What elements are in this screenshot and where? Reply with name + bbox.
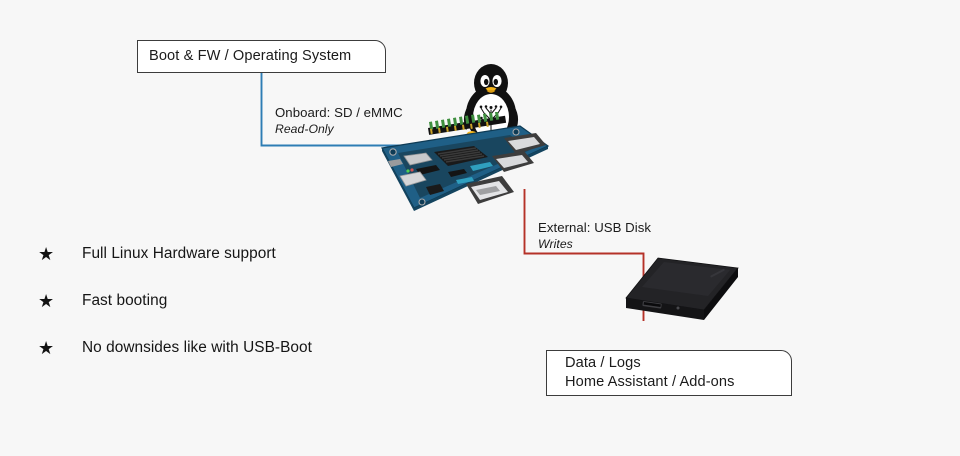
list-item-label: Fast booting bbox=[82, 290, 328, 312]
list-item: ★ No downsides like with USB-Boot bbox=[38, 337, 328, 359]
feature-bullet-list: ★ Full Linux Hardware support ★ Fast boo… bbox=[38, 243, 328, 359]
connector-label-external-title: External: USB Disk bbox=[538, 220, 651, 236]
star-icon: ★ bbox=[38, 337, 82, 359]
star-icon: ★ bbox=[38, 243, 82, 265]
callout-operating-system-label: Boot & FW / Operating System bbox=[149, 47, 385, 66]
diagram-canvas: Boot & FW / Operating System Onboard: SD… bbox=[0, 0, 960, 456]
star-icon: ★ bbox=[38, 290, 82, 312]
callout-data-logs-line2: Home Assistant / Add-ons bbox=[565, 373, 791, 392]
list-item-label: No downsides like with USB-Boot bbox=[82, 337, 328, 359]
single-board-computer-image bbox=[370, 112, 552, 216]
callout-operating-system: Boot & FW / Operating System bbox=[137, 40, 386, 73]
list-item-label: Full Linux Hardware support bbox=[82, 243, 328, 265]
callout-data-logs-line1: Data / Logs bbox=[565, 354, 791, 373]
external-usb-disk-image bbox=[612, 246, 744, 342]
list-item: ★ Full Linux Hardware support bbox=[38, 243, 328, 265]
callout-data-logs: Data / Logs Home Assistant / Add-ons bbox=[546, 350, 792, 396]
list-item: ★ Fast booting bbox=[38, 290, 328, 312]
